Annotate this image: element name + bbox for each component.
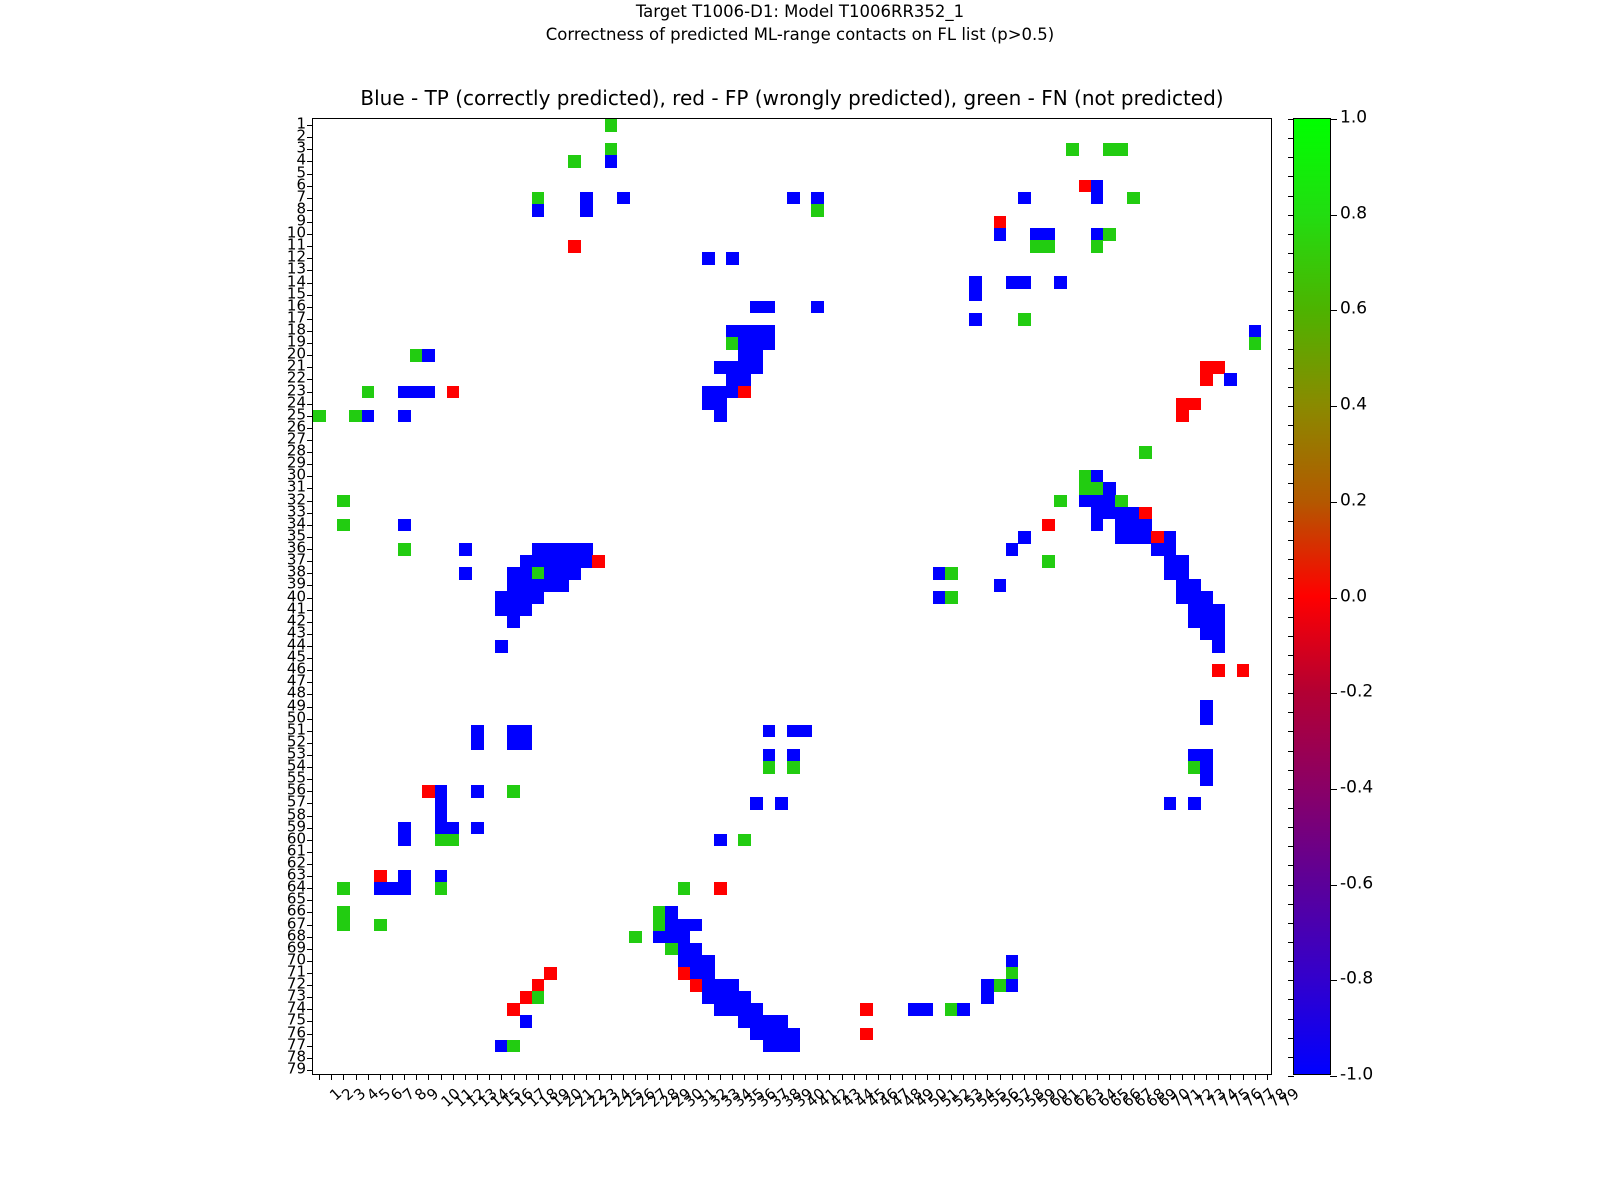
heatmap-cell bbox=[435, 809, 448, 822]
y-tick bbox=[307, 900, 313, 901]
y-tick bbox=[307, 125, 313, 126]
heatmap-cell bbox=[1164, 555, 1177, 568]
y-tick bbox=[307, 404, 313, 405]
colorbar-minor-tick bbox=[1288, 617, 1294, 618]
colorbar-minor-tick bbox=[1288, 961, 1294, 962]
heatmap-cell bbox=[398, 519, 411, 532]
heatmap-cell bbox=[349, 410, 362, 423]
y-tick bbox=[307, 452, 313, 453]
colorbar-minor-tick bbox=[1288, 138, 1294, 139]
heatmap-cell bbox=[726, 991, 739, 1004]
y-tick bbox=[307, 186, 313, 187]
heatmap-cell bbox=[763, 337, 776, 350]
heatmap-cell bbox=[763, 725, 776, 738]
heatmap-cell bbox=[435, 822, 448, 835]
y-tick bbox=[307, 779, 313, 780]
heatmap-cell bbox=[374, 870, 387, 883]
heatmap-cell bbox=[726, 386, 739, 399]
heatmap-cell bbox=[702, 386, 715, 399]
colorbar-minor-tick bbox=[1288, 712, 1294, 713]
colorbar-minor-tick bbox=[1288, 310, 1294, 311]
heatmap-cell bbox=[811, 301, 824, 314]
colorbar-minor-tick bbox=[1288, 999, 1294, 1000]
x-axis-labels: 1234567891011121314151617181920212223242… bbox=[312, 1080, 1272, 1190]
heatmap-cell bbox=[702, 955, 715, 968]
heatmap-cell bbox=[1115, 495, 1128, 508]
heatmap-cell bbox=[1030, 240, 1043, 253]
heatmap-cell bbox=[714, 1003, 727, 1016]
heatmap-cell bbox=[1103, 507, 1116, 520]
heatmap-cell bbox=[520, 579, 533, 592]
heatmap-cell bbox=[1164, 567, 1177, 580]
heatmap-cell bbox=[945, 1003, 958, 1016]
heatmap-cell bbox=[714, 361, 727, 374]
heatmap-cell bbox=[1176, 591, 1189, 604]
y-tick bbox=[307, 501, 313, 502]
heatmap-cell bbox=[787, 725, 800, 738]
heatmap-cell bbox=[1139, 446, 1152, 459]
colorbar-minor-tick bbox=[1288, 598, 1294, 599]
heatmap-cell bbox=[520, 725, 533, 738]
heatmap-cell bbox=[605, 155, 618, 168]
colorbar-minor-tick bbox=[1288, 196, 1294, 197]
colorbar-minor-tick bbox=[1288, 425, 1294, 426]
heatmap-cell bbox=[1139, 507, 1152, 520]
y-tick bbox=[307, 331, 313, 332]
colorbar-tick-label: 1.0 bbox=[1340, 110, 1367, 127]
heatmap-cell bbox=[763, 1015, 776, 1028]
colorbar-minor-tick bbox=[1288, 464, 1294, 465]
heatmap-cell bbox=[1091, 482, 1104, 495]
heatmap-cell bbox=[908, 1003, 921, 1016]
colorbar-minor-tick bbox=[1288, 674, 1294, 675]
y-tick bbox=[307, 416, 313, 417]
colorbar-minor-tick bbox=[1288, 578, 1294, 579]
colorbar-minor-tick bbox=[1288, 827, 1294, 828]
heatmap-cell bbox=[556, 555, 569, 568]
y-tick bbox=[307, 210, 313, 211]
colorbar-minor-tick bbox=[1288, 731, 1294, 732]
colorbar-minor-tick bbox=[1288, 770, 1294, 771]
heatmap-cell bbox=[763, 749, 776, 762]
heatmap-cell bbox=[702, 252, 715, 265]
y-tick bbox=[307, 912, 313, 913]
heatmap-cell bbox=[1200, 700, 1213, 713]
heatmap-cell bbox=[787, 749, 800, 762]
heatmap-cell bbox=[714, 834, 727, 847]
heatmap-cell bbox=[1249, 337, 1262, 350]
y-tick bbox=[307, 464, 313, 465]
heatmap-cell bbox=[1237, 664, 1250, 677]
y-tick bbox=[307, 343, 313, 344]
y-tick bbox=[307, 246, 313, 247]
heatmap-cell bbox=[1054, 495, 1067, 508]
heatmap-cell bbox=[738, 373, 751, 386]
colorbar-tick bbox=[1330, 119, 1337, 120]
heatmap-cell bbox=[1212, 604, 1225, 617]
heatmap-cell bbox=[750, 325, 763, 338]
heatmap-cell bbox=[1042, 555, 1055, 568]
heatmap-cell bbox=[410, 349, 423, 362]
heatmap-cell bbox=[520, 737, 533, 750]
heatmap-cell bbox=[520, 991, 533, 1004]
heatmap-cell bbox=[763, 1028, 776, 1041]
heatmap-cell bbox=[447, 834, 460, 847]
colorbar-minor-tick bbox=[1288, 349, 1294, 350]
heatmap-cell bbox=[495, 1040, 508, 1053]
y-tick bbox=[307, 392, 313, 393]
heatmap-cell bbox=[556, 543, 569, 556]
heatmap-cell bbox=[921, 1003, 934, 1016]
heatmap-cell bbox=[1188, 604, 1201, 617]
heatmap-cell bbox=[1079, 470, 1092, 483]
heatmap-cell bbox=[1091, 180, 1104, 193]
y-tick bbox=[307, 1058, 313, 1059]
y-tick bbox=[307, 949, 313, 950]
y-tick bbox=[307, 525, 313, 526]
heatmap-cell bbox=[398, 386, 411, 399]
y-tick bbox=[307, 610, 313, 611]
colorbar-minor-tick bbox=[1288, 157, 1294, 158]
heatmap-cell bbox=[544, 579, 557, 592]
heatmap-cell bbox=[1115, 531, 1128, 544]
colorbar-minor-tick bbox=[1288, 1038, 1294, 1039]
heatmap-cell bbox=[1200, 773, 1213, 786]
y-tick bbox=[307, 828, 313, 829]
colorbar-minor-tick bbox=[1288, 253, 1294, 254]
colorbar-minor-tick bbox=[1288, 846, 1294, 847]
heatmap-cell bbox=[337, 882, 350, 895]
y-tick bbox=[307, 1070, 313, 1071]
heatmap-cell bbox=[617, 192, 630, 205]
heatmap-cell bbox=[1018, 276, 1031, 289]
heatmap-cell bbox=[775, 797, 788, 810]
y-tick bbox=[307, 137, 313, 138]
heatmap-cell bbox=[337, 906, 350, 919]
heatmap-cell bbox=[532, 579, 545, 592]
heatmap-cell bbox=[1224, 373, 1237, 386]
y-tick bbox=[307, 161, 313, 162]
heatmap-cell bbox=[337, 519, 350, 532]
colorbar-minor-tick bbox=[1288, 272, 1294, 273]
y-tick bbox=[307, 961, 313, 962]
y-tick bbox=[307, 174, 313, 175]
heatmap-cell bbox=[738, 1003, 751, 1016]
colorbar-minor-tick bbox=[1288, 1057, 1294, 1058]
heatmap-cell bbox=[1018, 192, 1031, 205]
heatmap-cell bbox=[1018, 313, 1031, 326]
colorbar-minor-tick bbox=[1288, 483, 1294, 484]
axes-title-legend: Blue - TP (correctly predicted), red - F… bbox=[312, 86, 1272, 110]
y-tick bbox=[307, 283, 313, 284]
heatmap-cell bbox=[447, 386, 460, 399]
y-axis-labels: 1234567891011121314151617181920212223242… bbox=[238, 118, 306, 1075]
y-tick bbox=[307, 488, 313, 489]
heatmap-cell bbox=[726, 325, 739, 338]
heatmap-cell bbox=[738, 349, 751, 362]
heatmap-cell bbox=[1139, 519, 1152, 532]
heatmap-cell bbox=[1091, 519, 1104, 532]
heatmap-cell bbox=[1164, 543, 1177, 556]
y-tick bbox=[307, 682, 313, 683]
heatmap-cell bbox=[1018, 531, 1031, 544]
heatmap-cell bbox=[592, 555, 605, 568]
y-tick bbox=[307, 585, 313, 586]
y-tick bbox=[307, 937, 313, 938]
colorbar[interactable] bbox=[1293, 118, 1331, 1075]
heatmap-cell bbox=[1200, 749, 1213, 762]
heatmap-cell bbox=[653, 931, 666, 944]
heatmap-cell bbox=[1079, 495, 1092, 508]
heatmap-cell bbox=[1127, 192, 1140, 205]
heatmap-cell bbox=[1042, 240, 1055, 253]
y-tick bbox=[307, 707, 313, 708]
y-tick bbox=[307, 513, 313, 514]
heatmap-cell bbox=[860, 1028, 873, 1041]
heatmap-cell bbox=[1188, 579, 1201, 592]
colorbar-minor-tick bbox=[1288, 521, 1294, 522]
y-tick bbox=[307, 864, 313, 865]
y-tick bbox=[307, 222, 313, 223]
heatmap-cell bbox=[1188, 591, 1201, 604]
heatmap-cell bbox=[969, 276, 982, 289]
heatmap-cell bbox=[1054, 276, 1067, 289]
heatmap-cell bbox=[860, 1003, 873, 1016]
y-tick bbox=[307, 598, 313, 599]
colorbar-minor-tick bbox=[1288, 808, 1294, 809]
y-tick bbox=[307, 1009, 313, 1010]
heatmap-cell bbox=[702, 967, 715, 980]
heatmap-cell bbox=[763, 761, 776, 774]
colorbar-minor-tick bbox=[1288, 502, 1294, 503]
heatmap-cell bbox=[1176, 579, 1189, 592]
heatmap-cell bbox=[750, 1028, 763, 1041]
heatmap-cell bbox=[629, 931, 642, 944]
heatmap-cell bbox=[750, 1015, 763, 1028]
heatmap-cell bbox=[398, 543, 411, 556]
heatmap-cell bbox=[690, 943, 703, 956]
colorbar-tick-label: -0.4 bbox=[1340, 779, 1373, 796]
heatmap-cell bbox=[726, 361, 739, 374]
heatmap-cell bbox=[1115, 143, 1128, 156]
heatmap-cell bbox=[398, 870, 411, 883]
heatmap-cell bbox=[969, 289, 982, 302]
heatmap-cell bbox=[532, 567, 545, 580]
heatmap-cell bbox=[1200, 761, 1213, 774]
heatmap-cell bbox=[435, 834, 448, 847]
heatmap-cell bbox=[750, 349, 763, 362]
heatmap-cell bbox=[532, 555, 545, 568]
colorbar-minor-tick bbox=[1288, 693, 1294, 694]
heatmap-cell bbox=[386, 882, 399, 895]
colorbar-minor-tick bbox=[1288, 923, 1294, 924]
colorbar-tick-label: 0.0 bbox=[1340, 588, 1367, 605]
heatmap-cell bbox=[1127, 507, 1140, 520]
heatmap-cell bbox=[738, 991, 751, 1004]
heatmap-cell bbox=[1042, 228, 1055, 241]
heatmap-cell bbox=[702, 979, 715, 992]
heatmap-cell bbox=[726, 979, 739, 992]
heatmap-cell bbox=[520, 555, 533, 568]
colorbar-tick bbox=[1330, 598, 1337, 599]
heatmap-cell bbox=[507, 616, 520, 629]
heatmap-cell bbox=[568, 567, 581, 580]
heatmap-cell bbox=[714, 386, 727, 399]
colorbar-minor-tick bbox=[1288, 751, 1294, 752]
heatmap-cell bbox=[532, 979, 545, 992]
heatmap-cell bbox=[568, 555, 581, 568]
heatmap-cell bbox=[775, 1015, 788, 1028]
y-tick bbox=[307, 307, 313, 308]
heatmap-cell bbox=[750, 1003, 763, 1016]
heatmap-cell bbox=[738, 325, 751, 338]
colorbar-minor-tick bbox=[1288, 119, 1294, 120]
heatmap-cell bbox=[1103, 495, 1116, 508]
heatmap-cell bbox=[507, 785, 520, 798]
heatmap-cell bbox=[1115, 507, 1128, 520]
heatmap-cells bbox=[313, 119, 1271, 1074]
heatmap-cell bbox=[1212, 664, 1225, 677]
heatmap-cell bbox=[750, 361, 763, 374]
heatmap-cell bbox=[1200, 713, 1213, 726]
y-tick bbox=[307, 1034, 313, 1035]
heatmap-cell bbox=[787, 1040, 800, 1053]
heatmap-cell bbox=[544, 967, 557, 980]
y-tick bbox=[307, 149, 313, 150]
y-tick bbox=[307, 791, 313, 792]
y-tick-label: 79 bbox=[287, 1061, 306, 1076]
heatmap-cell bbox=[1200, 628, 1213, 641]
colorbar-tick-label: 0.2 bbox=[1340, 492, 1367, 509]
heatmap-cell bbox=[665, 931, 678, 944]
heatmap-cell bbox=[507, 604, 520, 617]
y-tick bbox=[307, 816, 313, 817]
heatmap-cell bbox=[678, 931, 691, 944]
y-tick bbox=[307, 670, 313, 671]
colorbar-tick bbox=[1330, 1076, 1337, 1077]
heatmap-cell bbox=[1164, 531, 1177, 544]
y-tick bbox=[307, 997, 313, 998]
heatmap-cell bbox=[653, 919, 666, 932]
heatmap-cell bbox=[605, 143, 618, 156]
heatmap-cell bbox=[726, 373, 739, 386]
heatmap-cell bbox=[471, 725, 484, 738]
heatmap-cell bbox=[362, 386, 375, 399]
heatmap-cell bbox=[1176, 410, 1189, 423]
heatmap-cell bbox=[690, 955, 703, 968]
heatmap-cell bbox=[374, 919, 387, 932]
heatmap-cell bbox=[398, 882, 411, 895]
heatmap-cell bbox=[1006, 979, 1019, 992]
heatmap-cell bbox=[1103, 228, 1116, 241]
heatmap-cell bbox=[471, 737, 484, 750]
heatmap-cell bbox=[1212, 616, 1225, 629]
heatmap-cell bbox=[678, 919, 691, 932]
heatmap-cell bbox=[738, 1015, 751, 1028]
heatmap-cell bbox=[447, 822, 460, 835]
heatmap-cell bbox=[787, 192, 800, 205]
colorbar-tick-label: -0.6 bbox=[1340, 875, 1373, 892]
heatmap-cell bbox=[495, 640, 508, 653]
y-tick bbox=[307, 840, 313, 841]
y-tick bbox=[307, 355, 313, 356]
y-tick bbox=[307, 719, 313, 720]
heatmap-cell bbox=[507, 725, 520, 738]
heatmap-cell bbox=[544, 567, 557, 580]
heatmap-cell bbox=[422, 785, 435, 798]
heatmap-cell bbox=[337, 495, 350, 508]
y-tick bbox=[307, 476, 313, 477]
heatmap-cell bbox=[605, 119, 618, 132]
heatmap-cell bbox=[410, 386, 423, 399]
heatmap-cell bbox=[738, 386, 751, 399]
colorbar-tick bbox=[1330, 502, 1337, 503]
heatmap-cell bbox=[1006, 276, 1019, 289]
heatmap-cell bbox=[994, 216, 1007, 229]
heatmap-cell bbox=[459, 567, 472, 580]
colorbar-minor-tick bbox=[1288, 234, 1294, 235]
y-tick bbox=[307, 270, 313, 271]
heatmap-cell bbox=[1176, 567, 1189, 580]
heatmap-cell bbox=[726, 1003, 739, 1016]
colorbar-tick bbox=[1330, 310, 1337, 311]
colorbar-minor-tick bbox=[1288, 655, 1294, 656]
y-tick bbox=[307, 852, 313, 853]
colorbar-minor-tick bbox=[1288, 330, 1294, 331]
y-tick bbox=[307, 755, 313, 756]
heatmap-cell bbox=[580, 543, 593, 556]
heatmap-cell bbox=[714, 991, 727, 1004]
heatmap-cell bbox=[1176, 398, 1189, 411]
y-tick bbox=[307, 876, 313, 877]
heatmap-cell bbox=[1091, 228, 1104, 241]
y-tick bbox=[307, 985, 313, 986]
heatmap-cell bbox=[1091, 192, 1104, 205]
heatmap-cell bbox=[763, 325, 776, 338]
colorbar-tick-label: 0.6 bbox=[1340, 301, 1367, 318]
heatmap-cell bbox=[750, 797, 763, 810]
colorbar-tick bbox=[1330, 885, 1337, 886]
heatmap-cell bbox=[1006, 955, 1019, 968]
heatmap-cell bbox=[520, 604, 533, 617]
heatmap-cell bbox=[459, 543, 472, 556]
contact-map-figure: Target T1006-D1: Model T1006RR352_1 Corr… bbox=[0, 0, 1600, 1200]
heatmap-cell bbox=[1151, 543, 1164, 556]
colorbar-minor-tick bbox=[1288, 540, 1294, 541]
heatmap-cell bbox=[690, 919, 703, 932]
colorbar-tick-label: 0.8 bbox=[1340, 205, 1367, 222]
heatmap-cell bbox=[750, 337, 763, 350]
heatmap-cell bbox=[1091, 240, 1104, 253]
heatmap-cell bbox=[1103, 143, 1116, 156]
heatmap-cell bbox=[1249, 325, 1262, 338]
heatmap-cell bbox=[1006, 967, 1019, 980]
heatmap-cell bbox=[422, 349, 435, 362]
colorbar-minor-tick bbox=[1288, 636, 1294, 637]
colorbar-minor-tick bbox=[1288, 444, 1294, 445]
heatmap-cell bbox=[1200, 373, 1213, 386]
heatmap-cell bbox=[495, 604, 508, 617]
colorbar-minor-tick bbox=[1288, 387, 1294, 388]
contact-map-plot-area[interactable] bbox=[312, 118, 1272, 1075]
y-tick bbox=[307, 767, 313, 768]
y-tick bbox=[307, 646, 313, 647]
heatmap-cell bbox=[678, 967, 691, 980]
heatmap-cell bbox=[738, 337, 751, 350]
heatmap-cell bbox=[435, 785, 448, 798]
heatmap-cell bbox=[763, 1040, 776, 1053]
heatmap-cell bbox=[994, 579, 1007, 592]
